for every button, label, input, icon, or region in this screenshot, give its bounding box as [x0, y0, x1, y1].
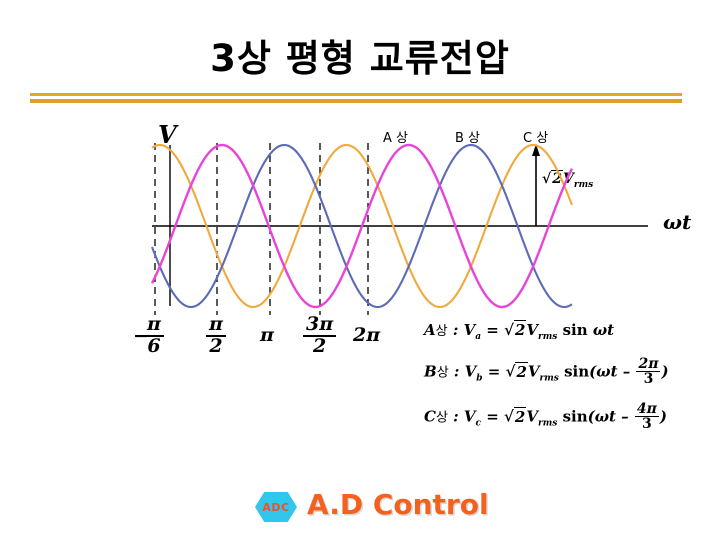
eq-minus: –	[618, 363, 636, 381]
eq-equals: =	[481, 408, 504, 426]
eq-close-paren: )	[661, 363, 668, 381]
tick-label-pi: π	[260, 315, 274, 346]
eq-phase-korean: 상	[436, 411, 448, 426]
eq-argument: ωt	[595, 408, 616, 426]
tick-label-neg-pi-6: − π 6	[144, 315, 164, 357]
page-title: 3상 평형 교류전압	[0, 28, 720, 82]
eq-radical-operand: 2	[514, 320, 526, 339]
eq-colon: :	[448, 321, 464, 339]
eq-vrms-subscript: rms	[540, 374, 559, 384]
eq-phase-letter: C	[424, 408, 436, 426]
eq-fraction-denominator: 3	[636, 371, 660, 386]
eq-radical-sign: √	[506, 363, 516, 381]
eq-radical-operand: 2	[515, 362, 527, 381]
logo-mark-text: ADC	[255, 492, 297, 522]
eq-phase-letter: A	[424, 321, 436, 339]
eq-radical-sign: √	[504, 321, 514, 339]
eq-colon: :	[449, 363, 465, 381]
eq-argument: ωt	[588, 321, 614, 339]
eq-vrms: V	[528, 363, 540, 381]
equation-c-phase: C상 : Vc = √2Vrms sin(ωt – 4π3)	[424, 403, 714, 432]
eq-function: sin	[564, 363, 589, 381]
tick-label-pi-2: π 2	[206, 315, 226, 357]
eq-vrms: V	[526, 408, 538, 426]
eq-radical-operand: 2	[514, 407, 526, 426]
eq-equals: =	[481, 321, 504, 339]
eq-fraction-denominator: 3	[635, 416, 659, 431]
eq-fraction-numerator: 4π	[635, 402, 659, 416]
eq-equals: =	[483, 363, 506, 381]
eq-open-paren: (	[588, 408, 595, 426]
eq-radical-sign: √	[504, 408, 514, 426]
eq-lhs: V	[464, 321, 476, 339]
eq-phase-korean: 상	[436, 324, 448, 339]
eq-function: sin	[563, 408, 588, 426]
tick-label-2pi: 2π	[353, 315, 380, 346]
equation-a-phase: A상 : Va = √2Vrms sin ωt	[424, 320, 714, 342]
eq-minus: –	[616, 408, 634, 426]
eq-argument: ωt	[596, 363, 617, 381]
tick-label-3pi-2: 3π 2	[303, 315, 336, 357]
logo-text: A.D Control	[307, 488, 489, 521]
slide-root: 3상 평형 교류전압 V ωt A 상 B 상 C 상 √2Vrms	[0, 0, 720, 540]
eq-lhs: V	[465, 363, 477, 381]
eq-fraction: 2π3	[636, 357, 660, 386]
tick-numerator: π	[206, 315, 226, 335]
eq-colon: :	[448, 408, 464, 426]
eq-fraction: 4π3	[635, 402, 659, 431]
eq-vrms-subscript: rms	[538, 419, 557, 429]
eq-function: sin	[563, 321, 588, 339]
eq-fraction-numerator: 2π	[636, 357, 660, 371]
equation-list: A상 : Va = √2Vrms sin ωt B상 : Vb = √2Vrms…	[424, 320, 714, 448]
tick-denominator: 2	[303, 335, 336, 357]
eq-vrms: V	[526, 321, 538, 339]
adc-hexagon-icon: ADC	[255, 492, 297, 522]
title-divider-top	[30, 93, 682, 96]
tick-minus-sign: −	[133, 327, 149, 347]
eq-lhs: V	[464, 408, 476, 426]
eq-phase-korean: 상	[437, 366, 449, 381]
title-divider-bottom	[30, 99, 682, 103]
equation-b-phase: B상 : Vb = √2Vrms sin(ωt – 2π3)	[424, 358, 714, 387]
eq-close-paren: )	[660, 408, 667, 426]
eq-vrms-subscript: rms	[538, 332, 557, 342]
tick-denominator: 2	[206, 335, 226, 357]
tick-numerator: 3π	[303, 315, 336, 335]
eq-phase-letter: B	[424, 363, 437, 381]
